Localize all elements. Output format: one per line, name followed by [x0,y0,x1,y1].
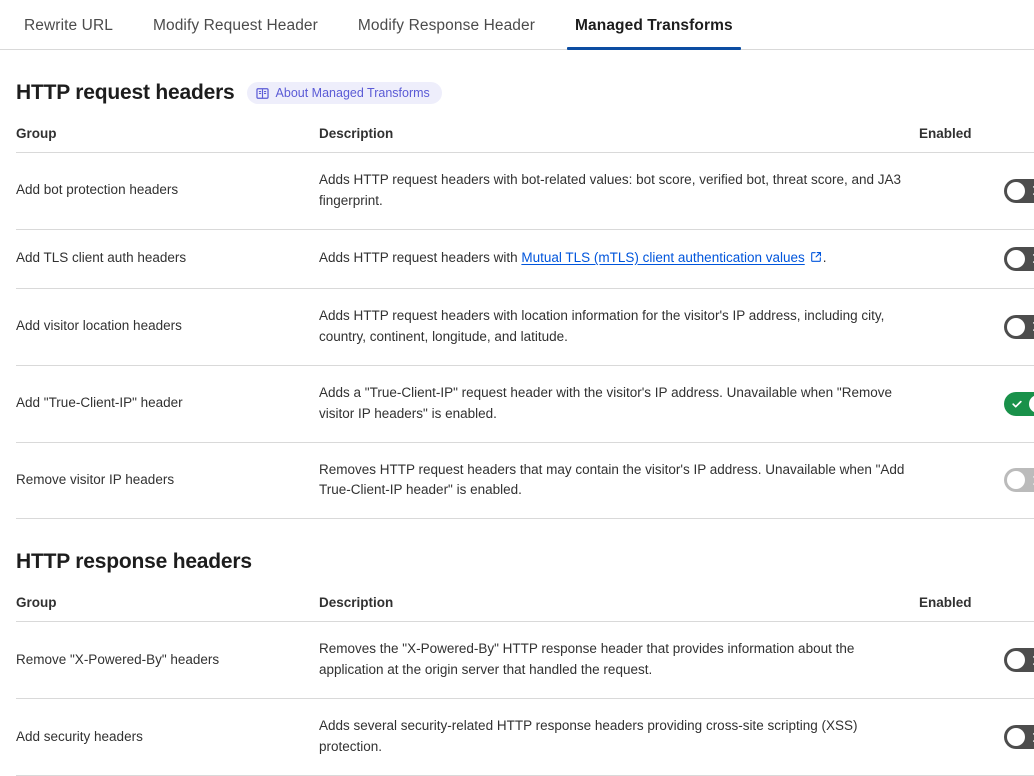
table-row: Add visitor location headers Adds HTTP r… [16,288,1034,365]
row-group-label: Add security headers [16,699,319,776]
about-managed-transforms-badge[interactable]: About Managed Transforms [247,82,442,104]
row-description-text: Adds a "True-Client-IP" request header w… [319,383,911,425]
response-section-header: HTTP response headers [16,519,1018,578]
table-row: Add TLS client auth headers Adds HTTP re… [16,229,1034,288]
tab-managed-transforms[interactable]: Managed Transforms [555,18,753,50]
row-description-text: Removes the "X-Powered-By" HTTP response… [319,639,911,681]
row-group-label: Add TLS client auth headers [16,229,319,288]
toggle-knob [1029,395,1034,413]
description-prefix: Adds HTTP request headers with [319,250,521,265]
table-row: Remove visitor IP headers Removes HTTP r… [16,442,1034,519]
row-group-label: Remove visitor IP headers [16,442,319,519]
toggle-knob [1007,651,1025,669]
row-enabled-cell [919,699,1034,776]
row-description: Adds HTTP request headers with location … [319,288,919,365]
toggle-add-bot-protection-headers[interactable] [1004,179,1034,203]
about-badge-label: About Managed Transforms [276,86,430,100]
row-group-label: Remove "X-Powered-By" headers [16,622,319,699]
row-description-text: Adds HTTP request headers with bot-relat… [319,170,911,212]
toggle-knob [1007,250,1025,268]
external-link-icon[interactable] [810,249,822,270]
row-group-label: Add bot protection headers [16,153,319,230]
row-enabled-cell [919,365,1034,442]
row-group-label: Add "True-Client-IP" header [16,365,319,442]
row-description: Removes HTTP request headers that may co… [319,442,919,519]
row-enabled-cell [919,442,1034,519]
http-response-headers-section: HTTP response headers Group Description … [0,519,1034,776]
table-row: Remove "X-Powered-By" headers Removes th… [16,622,1034,699]
toggle-knob [1007,471,1025,489]
toggle-add-true-client-ip-header[interactable] [1004,392,1034,416]
request-headers-table: Group Description Enabled Add bot protec… [16,126,1034,519]
tab-modify-request-header[interactable]: Modify Request Header [133,18,338,50]
toggle-remove-visitor-ip-headers [1004,468,1034,492]
toggle-add-security-headers[interactable] [1004,725,1034,749]
table-header-row: Group Description Enabled [16,126,1034,153]
table-row: Add security headers Adds several securi… [16,699,1034,776]
column-header-description: Description [319,595,919,622]
tab-bar: Rewrite URL Modify Request Header Modify… [0,0,1034,50]
row-enabled-cell [919,622,1034,699]
column-header-description: Description [319,126,919,153]
toggle-knob [1007,728,1025,746]
column-header-enabled: Enabled [919,595,1034,622]
row-enabled-cell [919,288,1034,365]
row-description-text: Removes HTTP request headers that may co… [319,460,911,502]
column-header-enabled: Enabled [919,126,1034,153]
row-description: Adds a "True-Client-IP" request header w… [319,365,919,442]
row-description-text: Adds HTTP request headers with Mutual TL… [319,248,911,270]
row-group-label: Add visitor location headers [16,288,319,365]
request-section-header: HTTP request headers About Managed Trans… [16,50,1018,109]
row-description: Adds several security-related HTTP respo… [319,699,919,776]
column-header-group: Group [16,126,319,153]
table-header-row: Group Description Enabled [16,595,1034,622]
check-icon [1011,392,1023,416]
row-description: Adds HTTP request headers with Mutual TL… [319,229,919,288]
row-enabled-cell [919,229,1034,288]
page-title: HTTP request headers [16,81,235,105]
http-request-headers-section: HTTP request headers About Managed Trans… [0,50,1034,519]
book-docs-icon [256,87,269,100]
description-suffix: . [823,250,827,265]
row-description-text: Adds several security-related HTTP respo… [319,716,911,758]
toggle-knob [1007,182,1025,200]
row-description: Adds HTTP request headers with bot-relat… [319,153,919,230]
table-row: Add bot protection headers Adds HTTP req… [16,153,1034,230]
row-enabled-cell [919,153,1034,230]
toggle-knob [1007,318,1025,336]
mutual-tls-link[interactable]: Mutual TLS (mTLS) client authentication … [521,250,804,265]
toggle-add-tls-client-auth-headers[interactable] [1004,247,1034,271]
table-row: Add "True-Client-IP" header Adds a "True… [16,365,1034,442]
tab-rewrite-url[interactable]: Rewrite URL [18,18,133,50]
row-description: Removes the "X-Powered-By" HTTP response… [319,622,919,699]
response-headers-table: Group Description Enabled Remove "X-Powe… [16,595,1034,776]
row-description-text: Adds HTTP request headers with location … [319,306,911,348]
toggle-add-visitor-location-headers[interactable] [1004,315,1034,339]
response-section-title: HTTP response headers [16,550,252,574]
toggle-remove-x-powered-by-headers[interactable] [1004,648,1034,672]
column-header-group: Group [16,595,319,622]
tab-modify-response-header[interactable]: Modify Response Header [338,18,555,50]
